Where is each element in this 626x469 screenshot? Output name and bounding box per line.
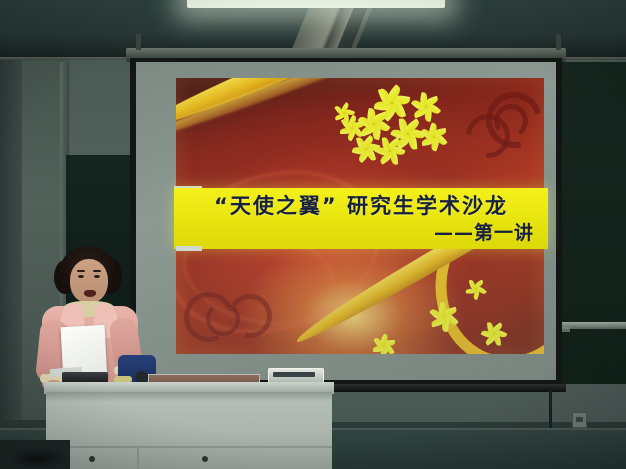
housing-bracket-left	[136, 34, 141, 50]
slide-flower	[434, 130, 435, 131]
slide-subtitle: ——第一讲	[434, 218, 534, 245]
slide-flower	[426, 100, 427, 101]
mouth	[84, 290, 96, 297]
slide-flower	[384, 340, 385, 341]
slide-flower	[390, 144, 391, 145]
housing-bracket-right	[556, 34, 561, 50]
eye-right	[94, 275, 100, 278]
left-wall-shadow	[0, 60, 22, 420]
podium-door-knob-left[interactable]	[89, 456, 95, 462]
slide-flower	[494, 328, 495, 329]
desk-keyboard[interactable]	[268, 368, 324, 383]
podium-door-knob-right[interactable]	[202, 456, 208, 462]
screen-pull-cord[interactable]	[549, 390, 552, 428]
eye-left	[78, 275, 84, 278]
eyebrow-left	[77, 270, 85, 272]
ceiling-light-panel	[187, 0, 445, 8]
eyebrow-right	[93, 270, 101, 272]
slide-flower	[408, 126, 409, 127]
podium-door-divider	[137, 448, 139, 469]
slide-title: “天使之翼” 研究生学术沙龙	[174, 190, 548, 220]
face	[70, 259, 108, 303]
podium-top-shadow	[46, 392, 332, 402]
slide-flower	[444, 310, 445, 311]
slide-flower	[392, 94, 393, 95]
slide-flower	[352, 122, 353, 123]
slide-flower	[344, 108, 345, 109]
title-band-tab-bottom	[176, 246, 202, 251]
floor-shadow	[8, 448, 68, 469]
slide-title-band: “天使之翼” 研究生学术沙龙 ——第一讲	[174, 188, 548, 249]
slide-flower	[374, 116, 375, 117]
slide-flower	[476, 284, 477, 285]
wall-outlet[interactable]	[572, 412, 587, 428]
classroom-presentation-photo: “天使之翼” 研究生学术沙龙 ——第一讲	[0, 0, 626, 469]
blackboard-right	[556, 62, 626, 384]
podium-seam	[46, 446, 332, 448]
slide-flower	[366, 142, 367, 143]
